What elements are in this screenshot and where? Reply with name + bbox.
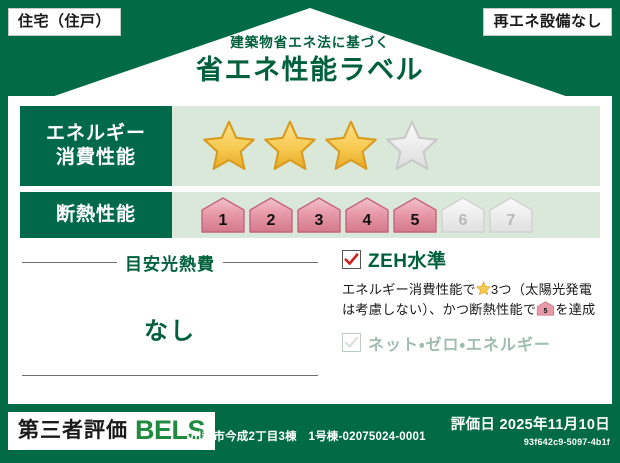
energy-label-line1: エネルギー [46, 122, 146, 146]
lower-section: 目安光熱費 なし ZEH水準 エネルギー消費性能で3つ（太陽 [8, 246, 612, 404]
zeh-heading-row: ZEH水準 [342, 246, 598, 273]
property-address: 川越市今成2丁目3棟 1号棟-02075024-0001 [190, 428, 426, 444]
evaluation-date: 評価日 2025年11月10日 [451, 418, 610, 434]
svg-text:5: 5 [411, 212, 420, 229]
insulation-house-icon-7: 7 [488, 196, 534, 234]
star-filled-icon [322, 118, 380, 174]
star-empty-icon [383, 118, 441, 174]
insulation-house-icon-1: 1 [200, 196, 246, 234]
insulation-level-scale: 1 2 3 4 [200, 196, 534, 234]
utility-cost-section: 目安光熱費 なし [22, 246, 318, 404]
rule-left [22, 262, 117, 263]
bels-energy-label: 住宅（住戸） 再エネ設備なし 建築物省エネ法に基づく 省エネ性能ラベル エネルギ… [0, 0, 620, 463]
check-icon-faint [343, 334, 360, 351]
label-card: エネルギー 消費性能 [8, 96, 612, 404]
zeh-checkbox[interactable] [342, 250, 361, 269]
net-zero-energy-label: ネット・ゼロ・エネルギー [368, 331, 551, 355]
insulation-house-icon-5: 5 [392, 196, 438, 234]
insulation-house-icon-4: 4 [344, 196, 390, 234]
star-rating [200, 118, 441, 174]
evaluation-id: 93f642c9-5097-4b1f [451, 437, 610, 447]
building-type-tag: 住宅（住戸） [8, 8, 121, 36]
renewable-energy-tag: 再エネ設備なし [483, 8, 612, 36]
zeh-desc-part1: エネルギー消費性能で [342, 282, 476, 297]
insulation-performance-row: 断熱性能 1 [20, 192, 600, 238]
star-filled-icon [200, 118, 258, 174]
svg-text:1: 1 [219, 212, 228, 229]
rule-right [223, 262, 318, 263]
utility-cost-heading: 目安光熱費 [22, 250, 318, 275]
svg-text:5: 5 [544, 307, 548, 315]
energy-label-line2: 消費性能 [56, 146, 136, 170]
check-icon [343, 251, 360, 268]
zeh-desc-part3: は考慮しない）、かつ断熱性能で [342, 302, 536, 317]
star-filled-icon [261, 118, 319, 174]
insulation-house-icon-2: 2 [248, 196, 294, 234]
net-zero-checkbox[interactable] [342, 333, 361, 352]
insulation-performance-value: 1 2 3 4 [172, 192, 600, 238]
bels-logo: 第三者評価 BELS [8, 412, 215, 450]
zeh-desc-part2: 3つ（太陽光発電 [491, 282, 592, 297]
svg-text:7: 7 [507, 212, 516, 229]
insulation-house-icon-6: 6 [440, 196, 486, 234]
energy-performance-value [172, 106, 600, 186]
label-footer: 第三者評価 BELS 川越市今成2丁目3棟 1号棟-02075024-0001 … [0, 404, 620, 463]
utility-cost-bottom-rule [22, 375, 318, 376]
svg-text:3: 3 [315, 212, 324, 229]
net-zero-energy-row: ネット・ゼロ・エネルギー [342, 331, 598, 355]
inline-star-icon [476, 281, 491, 296]
insulation-house-icon-3: 3 [296, 196, 342, 234]
insulation-performance-label: 断熱性能 [20, 192, 172, 238]
zeh-title: ZEH水準 [368, 246, 447, 273]
zeh-desc-part4: を達成 [555, 302, 595, 317]
zeh-section: ZEH水準 エネルギー消費性能で3つ（太陽光発電は考慮しない）、かつ断熱性能で5… [342, 246, 598, 355]
svg-text:6: 6 [459, 212, 468, 229]
utility-cost-title: 目安光熱費 [125, 250, 215, 275]
svg-text:4: 4 [363, 212, 372, 229]
third-party-evaluation-text: 第三者評価 [18, 420, 128, 441]
zeh-description: エネルギー消費性能で3つ（太陽光発電は考慮しない）、かつ断熱性能で5を達成 [342, 280, 598, 321]
energy-performance-row: エネルギー 消費性能 [20, 106, 600, 186]
evaluation-date-value: 2025年11月10日 [499, 417, 610, 433]
evaluation-date-label: 評価日 [451, 417, 495, 433]
inline-house-level-icon: 5 [536, 301, 555, 316]
energy-performance-label: エネルギー 消費性能 [20, 106, 172, 186]
utility-cost-value: なし [22, 311, 318, 346]
svg-text:2: 2 [267, 212, 276, 229]
evaluation-meta: 評価日 2025年11月10日 93f642c9-5097-4b1f [451, 418, 610, 447]
